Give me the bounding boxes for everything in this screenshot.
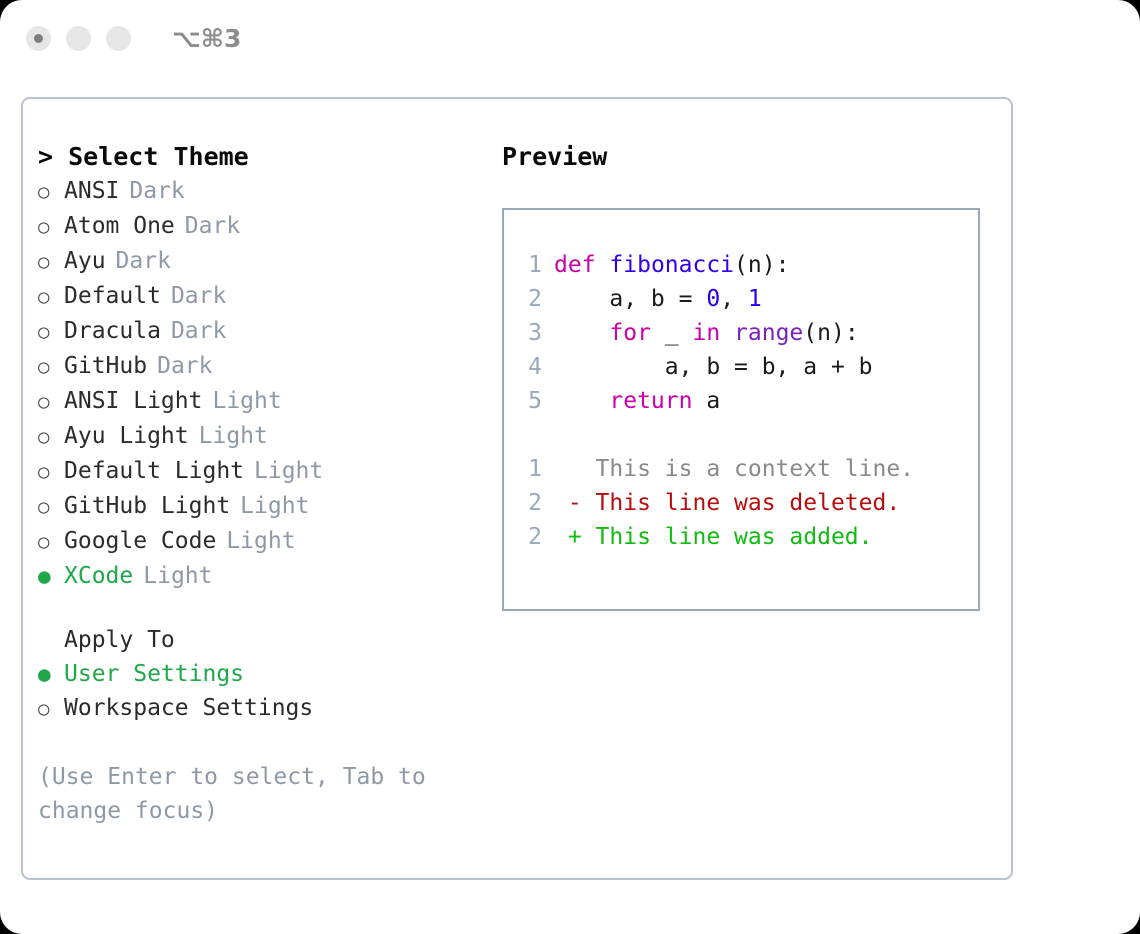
radio-unselected-icon: ○ [38,525,64,559]
code-line: 2 a, b = 0, 1 [520,282,978,316]
token-pl [596,252,610,278]
diff-line-number: 2 [520,486,554,520]
token-pl: a [692,388,720,414]
apply-to-heading: Apply To [38,623,478,657]
diff-line-ctx: 1 This is a context line. [520,452,978,486]
theme-option-11[interactable]: ●XCodeLight [38,559,478,593]
theme-option-tag: Light [226,524,295,558]
theme-option-10[interactable]: ○Google CodeLight [38,524,478,559]
theme-option-label: Default Light [64,454,244,488]
code-line-content: a, b = b, a + b [554,350,873,384]
token-pl: , [720,286,748,312]
diff-sample: 1 This is a context line.2 - This line w… [520,452,978,554]
diff-line-content: - This line was deleted. [554,486,900,520]
spacer [38,593,478,623]
token-pl [554,388,609,414]
code-line-content: def fibonacci(n): [554,248,789,282]
diff-line-number: 2 [520,520,554,554]
diff-line-content: This is a context line. [554,452,914,486]
theme-option-9[interactable]: ○GitHub LightLight [38,489,478,524]
apply-to-option-label: Workspace Settings [64,691,313,725]
theme-option-list[interactable]: ○ANSIDark○Atom OneDark○AyuDark○DefaultDa… [38,174,478,593]
diff-line-content: + This line was added. [554,520,873,554]
spacer [38,726,478,760]
theme-option-3[interactable]: ○DefaultDark [38,279,478,314]
dialog-frame: > Select Theme ○ANSIDark○Atom OneDark○Ay… [21,97,1013,880]
diff-line-add: 2 + This line was added. [520,520,978,554]
theme-option-label: Default [64,279,161,313]
code-line: 4 a, b = b, a + b [520,350,978,384]
theme-option-label: ANSI Light [64,384,202,418]
theme-option-6[interactable]: ○ANSI LightLight [38,384,478,419]
token-kw: return [609,388,692,414]
theme-option-5[interactable]: ○GitHubDark [38,349,478,384]
apply-to-option-list[interactable]: ●User Settings○Workspace Settings [38,657,478,726]
apply-to-option-0[interactable]: ●User Settings [38,657,478,691]
theme-option-4[interactable]: ○DraculaDark [38,314,478,349]
diff-line-number: 1 [520,452,554,486]
window-titlebar: ⌥⌘3 [0,0,1140,76]
theme-option-label: Dracula [64,314,161,348]
preview-heading: Preview [502,140,1002,174]
code-line: 1def fibonacci(n): [520,248,978,282]
token-kw: def [554,252,596,278]
radio-unselected-icon: ○ [38,420,64,454]
radio-unselected-icon: ○ [38,385,64,419]
theme-option-label: Ayu [64,244,106,278]
window-control-dot-2[interactable] [66,26,91,51]
app-window: ⌥⌘3 > Select Theme ○ANSIDark○Atom OneDar… [0,0,1140,934]
window-control-dot-3[interactable] [106,26,131,51]
theme-option-tag: Light [254,454,323,488]
theme-option-tag: Dark [157,349,212,383]
theme-option-tag: Light [212,384,281,418]
code-line-number: 3 [520,316,554,350]
theme-option-label: GitHub Light [64,489,230,523]
code-sample: 1def fibonacci(n):2 a, b = 0, 13 for _ i… [520,248,978,418]
theme-option-tag: Dark [171,279,226,313]
token-pl [720,320,734,346]
theme-option-tag: Dark [185,209,240,243]
token-call: range [734,320,803,346]
token-num: 0 [706,286,720,312]
code-line-number: 5 [520,384,554,418]
radio-unselected-icon: ○ [38,245,64,279]
preview-panel: 1def fibonacci(n):2 a, b = 0, 13 for _ i… [502,208,980,611]
code-line-content: for _ in range(n): [554,316,859,350]
radio-unselected-icon: ○ [38,280,64,314]
theme-option-0[interactable]: ○ANSIDark [38,174,478,209]
theme-option-label: Atom One [64,209,175,243]
token-pl: a, b = [554,286,706,312]
radio-selected-icon: ● [38,559,64,593]
code-line: 3 for _ in range(n): [520,316,978,350]
token-kw: for [609,320,651,346]
radio-unselected-icon: ○ [38,490,64,524]
radio-unselected-icon: ○ [38,350,64,384]
theme-option-tag: Dark [116,244,171,278]
select-theme-heading: > Select Theme [38,140,478,174]
theme-option-tag: Dark [171,314,226,348]
code-line-content: a, b = 0, 1 [554,282,762,316]
theme-selection-column: > Select Theme ○ANSIDark○Atom OneDark○Ay… [38,140,478,828]
window-controls [26,26,146,51]
theme-option-label: Google Code [64,524,216,558]
theme-option-tag: Dark [129,174,184,208]
spacer [520,418,978,452]
radio-unselected-icon: ○ [38,175,64,209]
window-control-dot-1[interactable] [26,26,51,51]
token-pl: a, b = b, a + b [554,354,873,380]
token-pl: _ [651,320,693,346]
code-line-number: 4 [520,350,554,384]
keyboard-shortcut-label: ⌥⌘3 [172,24,241,53]
apply-to-option-1[interactable]: ○Workspace Settings [38,691,478,726]
token-pl: (n): [803,320,858,346]
theme-option-8[interactable]: ○Default LightLight [38,454,478,489]
token-fn: fibonacci [609,252,734,278]
radio-unselected-icon: ○ [38,455,64,489]
code-line-number: 1 [520,248,554,282]
theme-option-tag: Light [240,489,309,523]
theme-option-tag: Light [143,559,212,593]
theme-option-2[interactable]: ○AyuDark [38,244,478,279]
diff-line-del: 2 - This line was deleted. [520,486,978,520]
token-pl [554,320,609,346]
theme-option-label: ANSI [64,174,119,208]
radio-unselected-icon: ○ [38,315,64,349]
code-line-content: return a [554,384,720,418]
radio-unselected-icon: ○ [38,692,64,726]
theme-option-label: GitHub [64,349,147,383]
code-line-number: 2 [520,282,554,316]
apply-to-option-label: User Settings [64,657,244,691]
theme-option-label: Ayu Light [64,419,189,453]
token-pl: (n): [734,252,789,278]
keyboard-hint-text: (Use Enter to select, Tab to change focu… [38,760,448,828]
code-line: 5 return a [520,384,978,418]
theme-option-tag: Light [199,419,268,453]
radio-unselected-icon: ○ [38,210,64,244]
theme-option-7[interactable]: ○Ayu LightLight [38,419,478,454]
token-kw: in [692,320,720,346]
theme-option-1[interactable]: ○Atom OneDark [38,209,478,244]
token-num: 1 [748,286,762,312]
theme-option-label: XCode [64,559,133,593]
radio-selected-icon: ● [38,657,64,691]
preview-column: Preview 1def fibonacci(n):2 a, b = 0, 13… [502,140,1002,611]
